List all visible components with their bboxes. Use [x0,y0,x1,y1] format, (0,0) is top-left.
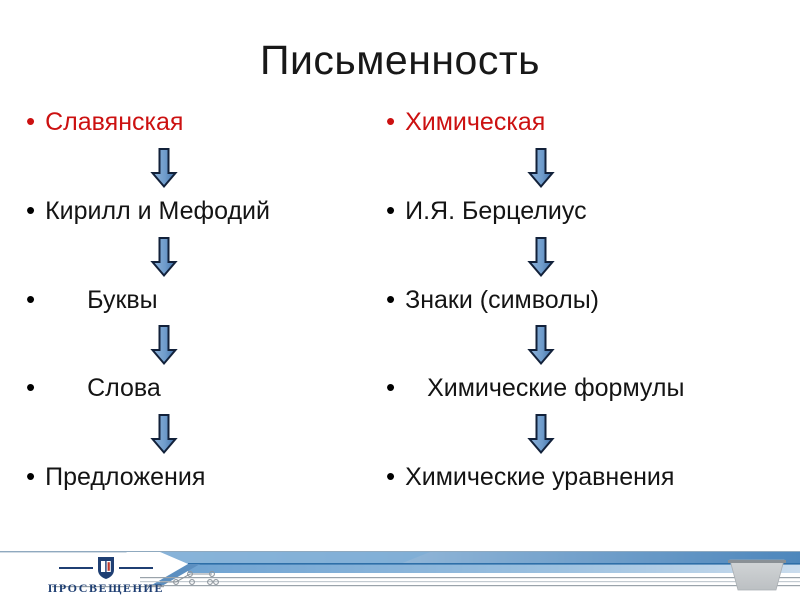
flow-item: • Славянская [26,108,388,137]
arrow-connector [526,147,790,189]
bullet-icon: • [26,108,35,134]
arrow-connector [149,147,388,189]
down-arrow-icon [526,236,556,278]
down-arrow-icon [526,413,556,455]
bullet-icon: • [386,197,395,223]
bullet-icon: • [386,374,395,400]
arrow-connector [526,324,790,366]
flow-item-label: Буквы [87,286,158,315]
flow-item: • И.Я. Берцелиус [386,197,790,226]
logo-rule-left [59,567,93,569]
flow-item: • Знаки (символы) [386,286,790,315]
flow-item: • Кирилл и Мефодий [26,197,388,226]
flow-column-chemical: • Химическая • И.Я. Берцелиус • Знаки (с… [378,108,790,492]
bullet-icon: • [26,197,35,223]
down-arrow-icon [526,324,556,366]
bullet-icon: • [26,463,35,489]
down-arrow-icon [526,147,556,189]
flow-item-label: Химические формулы [427,374,684,403]
bullet-icon: • [386,463,395,489]
arrow-connector [149,236,388,278]
flow-item: • Буквы [26,286,388,315]
publisher-logo: ПРОСВЕЩЕНИЕ [46,556,166,594]
page-title: Письменность [0,38,800,83]
flow-item: • Химическая [386,108,790,137]
bullet-icon: • [26,286,35,312]
flow-item-label: Химические уравнения [405,463,674,492]
flow-item-label: Знаки (символы) [405,286,599,315]
shield-emblem-icon [96,556,116,580]
publisher-wordmark: ПРОСВЕЩЕНИЕ [46,582,166,594]
logo-rule-right [119,567,153,569]
down-arrow-icon [149,236,179,278]
flow-column-slavic: • Славянская • Кирилл и Мефодий • Буквы [18,108,388,492]
flow-item-label: И.Я. Берцелиус [405,197,586,226]
flow-item-label: Кирилл и Мефодий [45,197,270,226]
bullet-icon: • [26,374,35,400]
bullet-icon: • [386,286,395,312]
arrow-connector [149,324,388,366]
flow-item-label: Слова [87,374,161,403]
flow-item-label: Предложения [45,463,205,492]
flow-item: • Химические уравнения [386,463,790,492]
down-arrow-icon [149,147,179,189]
flow-item: • Химические формулы [386,374,790,403]
arrow-connector [526,236,790,278]
flow-item: • Слова [26,374,388,403]
logo-emblem-row [46,556,166,580]
arrow-connector [149,413,388,455]
down-arrow-icon [149,413,179,455]
down-arrow-icon [149,324,179,366]
arrow-connector [526,413,790,455]
flow-item-label: Химическая [405,108,545,137]
bullet-icon: • [386,108,395,134]
flow-item: • Предложения [26,463,388,492]
flow-item-label: Славянская [45,108,183,137]
